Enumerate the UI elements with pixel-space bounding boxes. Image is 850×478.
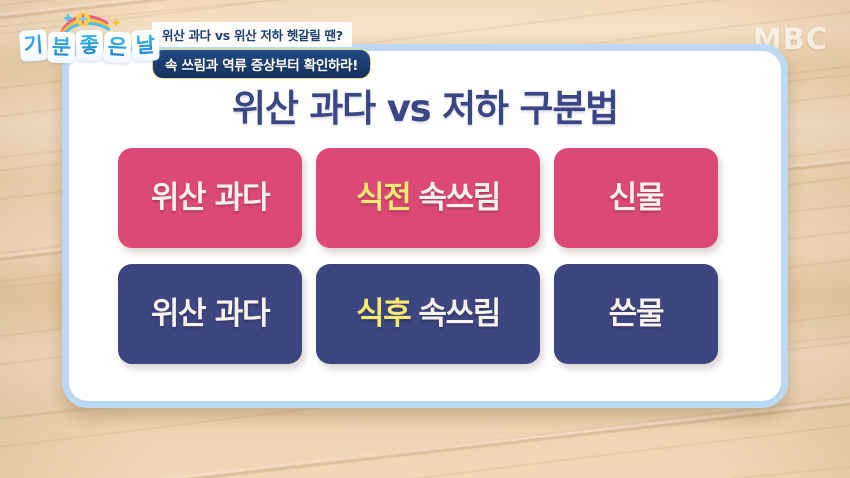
banner-answer-text: 속 쓰림과 역류 증상부터 확인하라! bbox=[152, 49, 371, 79]
card-row1-symptom-label: 식전속쓰림 bbox=[356, 183, 500, 214]
card-row2-condition[interactable]: 위산 과다 bbox=[118, 264, 302, 364]
card-row1-condition[interactable]: 위산 과다 bbox=[118, 148, 302, 248]
logo-char-4: 은 bbox=[107, 37, 127, 59]
card-row2-symptom-highlight: 식후 bbox=[356, 296, 410, 332]
page-title-text: 위산 과다 vs 저하 구분법 bbox=[232, 87, 618, 130]
tv-screenshot: MBC 기 분 좋 은 날 위산 과다 vs 위산 저하 헷갈릴 땐? 속 쓰림 bbox=[0, 0, 850, 478]
card-row2-symptom-rest: 속쓰림 bbox=[418, 296, 500, 332]
table-row: 위산 과다 식전속쓰림 신물 bbox=[118, 148, 718, 248]
card-row1-result-label: 신물 bbox=[609, 183, 663, 214]
card-row2-result[interactable]: 쓴물 bbox=[554, 264, 718, 364]
card-row2-result-label: 쓴물 bbox=[609, 299, 663, 330]
card-row1-symptom-rest: 속쓰림 bbox=[418, 180, 500, 216]
banner-question-text: 위산 과다 vs 위산 저하 헷갈릴 땐? bbox=[152, 22, 352, 47]
card-row2-symptom[interactable]: 식후속쓰림 bbox=[316, 264, 540, 364]
logo-char-5: 날 bbox=[135, 35, 155, 57]
card-row1-symptom-highlight: 식전 bbox=[356, 180, 410, 216]
program-logo-tiles: 기 분 좋 은 날 bbox=[20, 30, 159, 61]
card-row1-result[interactable]: 신물 bbox=[554, 148, 718, 248]
logo-tile-4: 은 bbox=[103, 31, 132, 63]
topic-banner: 위산 과다 vs 위산 저하 헷갈릴 땐? 속 쓰림과 역류 증상부터 확인하라… bbox=[152, 22, 371, 79]
logo-tile-1: 기 bbox=[19, 29, 48, 62]
card-row1-condition-label: 위산 과다 bbox=[151, 183, 269, 214]
banner-line1-wrap: 위산 과다 vs 위산 저하 헷갈릴 땐? bbox=[152, 22, 371, 47]
comparison-grid: 위산 과다 식전속쓰림 신물 위산 과다 식후속쓰림 쓴물 bbox=[118, 148, 718, 364]
page-title: 위산 과다 vs 저하 구분법 bbox=[0, 78, 850, 132]
logo-char-1: 기 bbox=[23, 34, 44, 56]
card-row1-symptom[interactable]: 식전속쓰림 bbox=[316, 148, 540, 248]
logo-char-3: 좋 bbox=[79, 35, 99, 57]
program-logo: 기 분 좋 은 날 bbox=[20, 12, 170, 70]
logo-tile-2: 분 bbox=[47, 32, 75, 64]
card-row2-condition-label: 위산 과다 bbox=[151, 299, 269, 330]
logo-char-2: 분 bbox=[51, 37, 71, 59]
table-row: 위산 과다 식후속쓰림 쓴물 bbox=[118, 264, 718, 364]
banner-line2-wrap: 속 쓰림과 역류 증상부터 확인하라! bbox=[152, 47, 371, 79]
card-row2-symptom-label: 식후속쓰림 bbox=[356, 299, 500, 330]
logo-tile-3: 좋 bbox=[75, 30, 103, 62]
logo-tile-5: 날 bbox=[131, 29, 160, 61]
